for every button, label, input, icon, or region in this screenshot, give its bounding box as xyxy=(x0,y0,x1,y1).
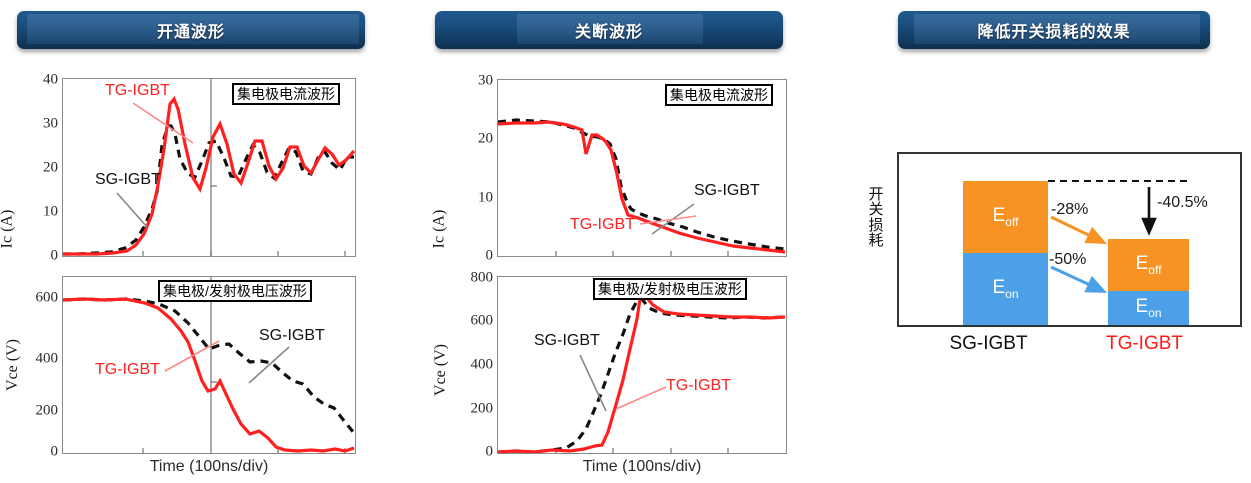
x-axis-label: Time (100ns/div) xyxy=(62,458,356,476)
loss-chart-frame: Eoff Eon Eoff Eon xyxy=(897,152,1242,327)
panel-turn-on: 开通波形 Ic (A) 40 30 20 10 0 TG-IGBT xyxy=(0,0,420,483)
waveform-svg xyxy=(498,277,786,453)
plot-tag-label: 集电极/发射极电压波形 xyxy=(593,278,747,300)
banner-title: 降低开关损耗的效果 xyxy=(977,18,1130,42)
x-axis-label: Time (100ns/div) xyxy=(497,458,787,476)
bar-segment-label-eoff: Eoff xyxy=(1136,254,1162,276)
leader-line-sg xyxy=(115,191,155,231)
y-tick: 10 xyxy=(478,190,493,207)
leader-line-tg xyxy=(614,385,670,413)
series-tg-igbt xyxy=(498,297,785,452)
plot-tag-label: 集电极电流波形 xyxy=(232,83,340,105)
y-tick-labels: 800 600 400 200 0 xyxy=(425,266,493,451)
curve-label-tg-igbt: TG-IGBT xyxy=(105,82,170,100)
y-tick: 600 xyxy=(36,290,59,307)
bar-segment-eon: Eon xyxy=(1108,291,1189,325)
y-tick: 30 xyxy=(43,116,58,133)
annotation-total-delta: -40.5% xyxy=(1157,194,1208,212)
chart-ic-turn-on: Ic (A) 40 30 20 10 0 TG-IGBT SG-I xyxy=(0,70,400,260)
bar-segment-eon: Eon xyxy=(963,253,1048,325)
y-tick: 20 xyxy=(478,131,493,148)
waveform-svg xyxy=(63,79,355,256)
leader-line-tg xyxy=(161,339,223,375)
banner-loss-reduction: 降低开关损耗的效果 xyxy=(898,11,1210,49)
plot-area: SG-IGBT TG-IGBT xyxy=(497,276,787,454)
banner-turn-off: 关断波形 xyxy=(435,11,783,49)
leader-line-sg xyxy=(578,353,610,415)
curve-label-tg-igbt: TG-IGBT xyxy=(666,377,731,395)
annotation-eon-delta: -50% xyxy=(1049,251,1086,269)
y-tick-labels: 40 30 20 10 0 xyxy=(0,70,58,255)
banner-turn-on: 开通波形 xyxy=(17,11,365,49)
y-tick: 20 xyxy=(43,160,58,177)
panel-loss-reduction: 降低开关损耗的效果 开 关 损 耗 Eoff Eon Eoff Eon xyxy=(860,0,1251,483)
plot-tag-label: 集电极/发射极电压波形 xyxy=(158,280,312,302)
curve-label-sg-igbt: SG-IGBT xyxy=(694,182,760,200)
leader-line-tg xyxy=(638,214,700,228)
y-tick: 0 xyxy=(51,444,59,461)
chart-ic-turn-off: Ic (A) 30 20 10 0 SG-IGBT TG-IGBT xyxy=(425,70,825,260)
arrow-eon-delta xyxy=(1051,267,1103,291)
curve-label-tg-igbt: TG-IGBT xyxy=(570,216,635,234)
y-tick-labels: 30 20 10 0 xyxy=(425,70,493,255)
bar-tg-igbt: Eoff Eon xyxy=(1108,239,1189,325)
arrow-eoff-delta xyxy=(1051,217,1103,242)
series-sg-igbt xyxy=(498,299,785,452)
y-tick: 400 xyxy=(36,351,59,368)
y-tick: 40 xyxy=(43,72,58,89)
curve-label-sg-igbt: SG-IGBT xyxy=(95,171,161,189)
y-tick: 600 xyxy=(471,313,494,330)
category-label-sg-igbt: SG-IGBT xyxy=(906,333,1071,355)
category-label-tg-igbt: TG-IGBT xyxy=(1062,333,1227,355)
bar-segment-label-eoff: Eoff xyxy=(993,206,1019,228)
bar-segment-eoff: Eoff xyxy=(963,181,1048,253)
y-axis-label-char: 开 xyxy=(867,187,885,202)
y-tick: 0 xyxy=(51,248,59,265)
series-sg-igbt xyxy=(63,126,354,254)
curve-label-sg-igbt: SG-IGBT xyxy=(534,332,600,350)
y-tick: 30 xyxy=(478,73,493,90)
banner-title: 开通波形 xyxy=(157,18,225,42)
y-tick: 0 xyxy=(486,444,494,461)
bar-segment-label-eon: Eon xyxy=(992,278,1018,300)
bar-segment-label-eon: Eon xyxy=(1135,297,1161,319)
y-tick: 800 xyxy=(471,270,494,287)
plot-area: SG-IGBT TG-IGBT xyxy=(62,276,356,454)
banner-title: 关断波形 xyxy=(575,18,643,42)
y-tick: 10 xyxy=(43,204,58,221)
loss-annotations-svg xyxy=(899,154,1244,329)
curve-label-sg-igbt: SG-IGBT xyxy=(259,327,325,345)
y-tick-labels: 600 400 200 0 xyxy=(0,266,58,451)
plot-tag-label: 集电极电流波形 xyxy=(665,84,773,106)
leader-line-tg xyxy=(131,101,201,147)
y-axis-label-char: 耗 xyxy=(867,233,885,248)
waveform-svg xyxy=(498,80,786,256)
chart-vce-turn-off: Vce (V) 800 600 400 200 0 SG-IGBT TG-IGB… xyxy=(425,266,825,483)
bar-segment-eoff: Eoff xyxy=(1108,239,1189,291)
y-tick: 200 xyxy=(471,401,494,418)
y-axis-label-char: 关 xyxy=(867,202,885,217)
y-tick: 400 xyxy=(471,357,494,374)
y-tick: 200 xyxy=(36,403,59,420)
chart-vce-turn-on: Vce (V) 600 400 200 0 SG-IGBT TG-IGBT xyxy=(0,266,400,483)
y-axis-label-char: 损 xyxy=(867,218,885,233)
panel-turn-off: 关断波形 Ic (A) 30 20 10 0 SG-IGBT TG-IGBT xyxy=(425,0,845,483)
y-tick: 0 xyxy=(486,248,494,265)
y-axis-label-switching-loss: 开 关 损 耗 xyxy=(867,187,885,248)
leader-line-sg xyxy=(245,345,293,387)
bar-sg-igbt: Eoff Eon xyxy=(963,181,1048,325)
curve-label-tg-igbt: TG-IGBT xyxy=(95,361,160,379)
annotation-eoff-delta: -28% xyxy=(1051,201,1088,219)
